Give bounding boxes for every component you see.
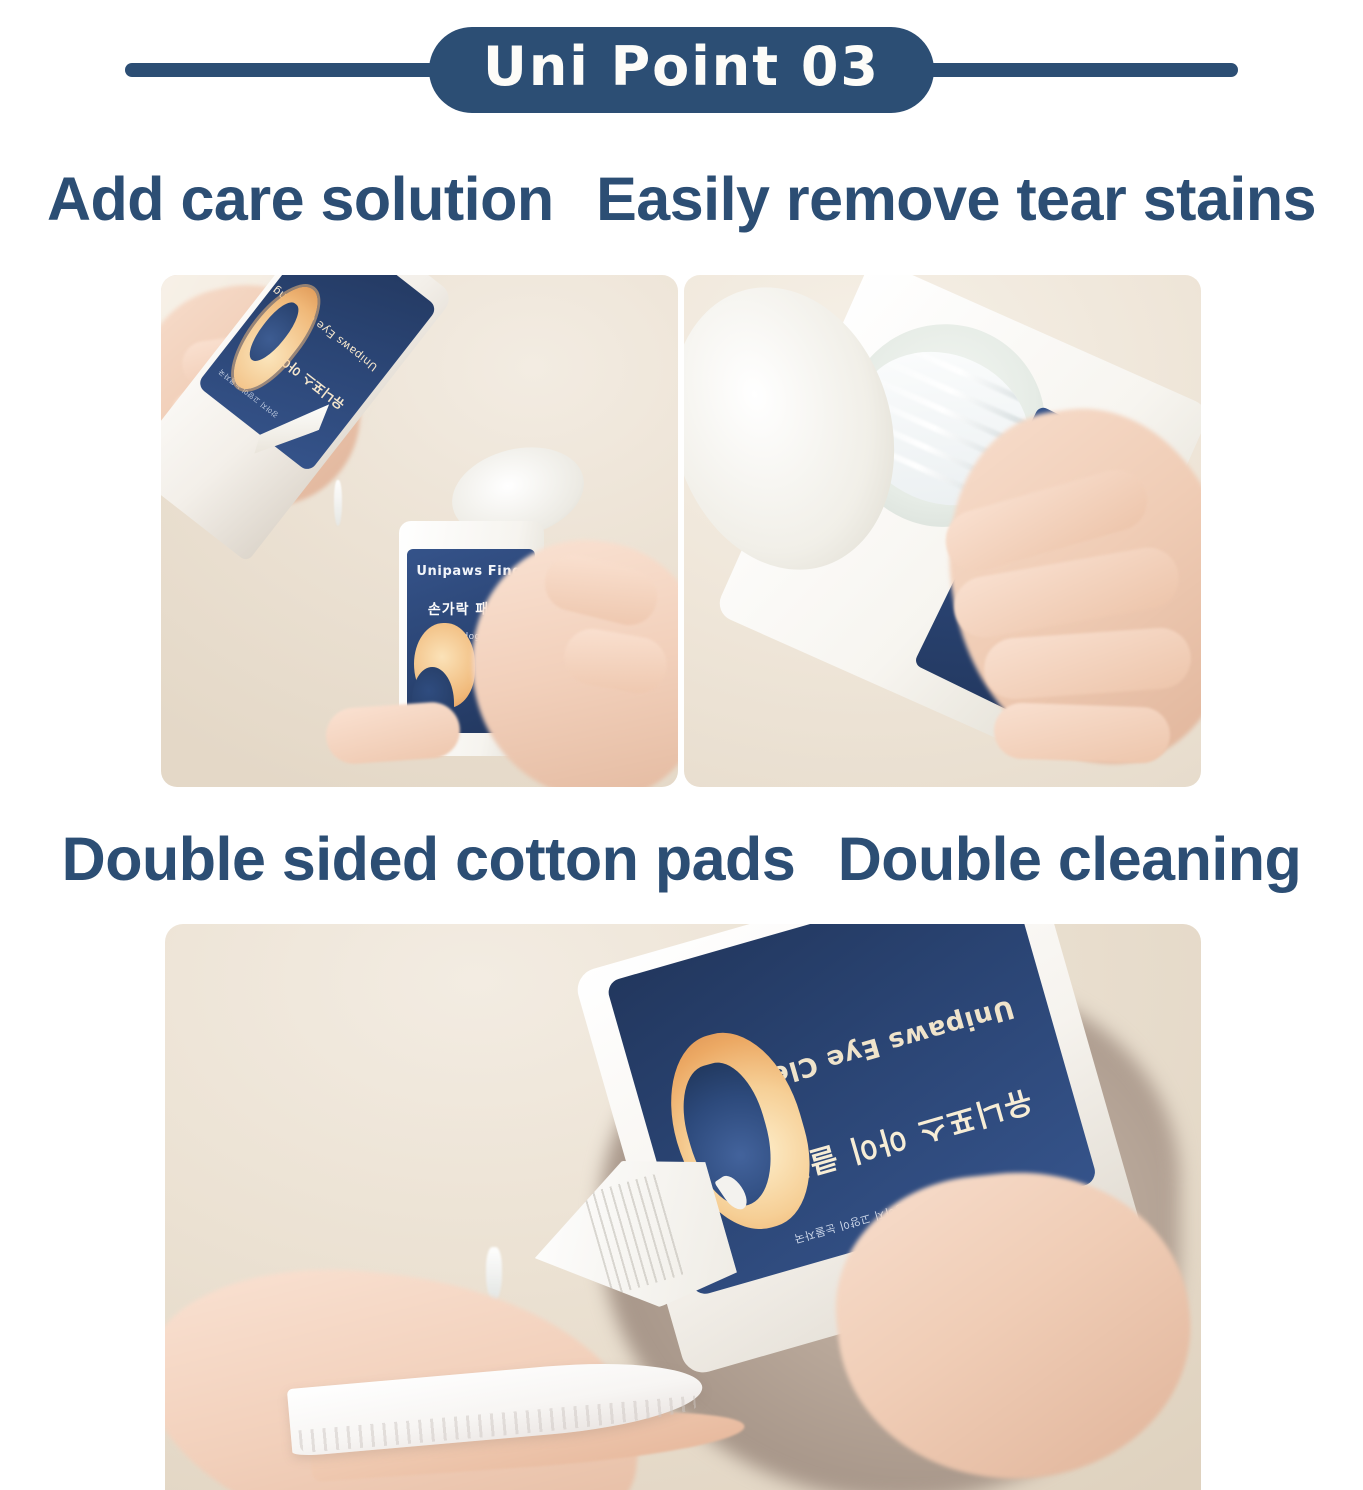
solution-droplet [486, 1247, 502, 1301]
finger [325, 700, 463, 766]
header-rule-left [125, 63, 455, 77]
uni-point-header: Uni Point 03 [0, 0, 1363, 140]
top-photo-row: Unipaws Eye Cleaning 유니포스 아이 클린 강아지 고양이 … [161, 275, 1201, 787]
headline-row-2: Double sided cotton pads Double cleaning [0, 824, 1363, 894]
thumb [993, 702, 1171, 764]
uni-point-badge: Uni Point 03 [429, 27, 934, 114]
headline-1-left: Add care solution [47, 165, 554, 233]
photo-double-sided-pads: Unipaws Eye Cleaning 유니포스 아이 클린 강아지 고양이 … [165, 924, 1201, 1490]
headline-row-1: Add care solution Easily remove tear sta… [0, 164, 1363, 234]
photo-add-care-solution: Unipaws Eye Cleaning 유니포스 아이 클린 강아지 고양이 … [161, 275, 678, 787]
photo-open-jar-pads: Unipaws Finger Pad [684, 275, 1201, 787]
nozzle-ridges [584, 1173, 686, 1295]
header-rule-right [908, 63, 1238, 77]
headline-2-right: Double cleaning [838, 825, 1302, 893]
headline-2-left: Double sided cotton pads [62, 825, 796, 893]
headline-1-right: Easily remove tear stains [596, 165, 1316, 233]
